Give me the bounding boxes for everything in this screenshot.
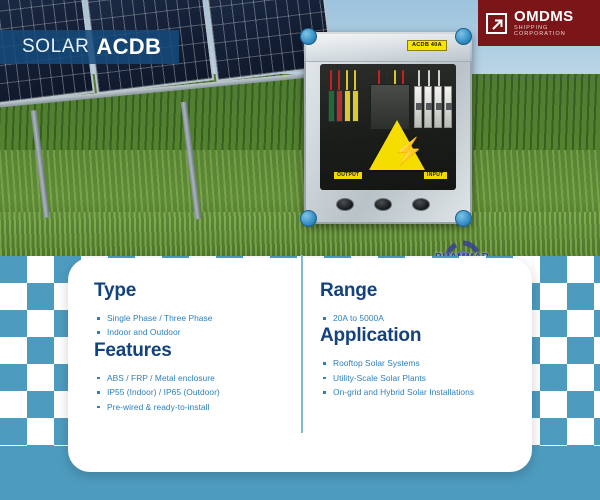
page-title: SOLAR ACDB — [0, 30, 179, 64]
corner-screw — [300, 28, 317, 45]
acdb-rating-label: ACDB 40A — [407, 40, 447, 51]
section-heading-application: Application — [320, 325, 532, 347]
acdb-interior-panel: ⚡ OUTPUT INPUT — [320, 64, 456, 190]
list-item: 20A to 5000A — [322, 311, 532, 325]
list-item: Rooftop Solar Systems — [322, 356, 532, 370]
poster-root: ⚡ OUTPUT INPUT ACDB 40A SOLAR ACDB — [0, 0, 600, 500]
list-item: Pre-wired & ready-to-install — [96, 400, 300, 414]
specs-card: Type Single Phase / Three Phase Indoor a… — [68, 258, 532, 472]
range-list: 20A to 5000A — [322, 311, 532, 325]
corner-screw — [455, 210, 472, 227]
list-item: Utility-Scale Solar Plants — [322, 371, 532, 385]
page-title-bold: ACDB — [96, 34, 161, 60]
bhammar-watermark: BHAMMAR — [424, 238, 500, 256]
mcb-breaker — [424, 86, 432, 128]
acdb-product-image: ⚡ OUTPUT INPUT ACDB 40A — [298, 28, 480, 228]
terminal-yellow — [352, 90, 359, 122]
application-list: Rooftop Solar Systems Utility-Scale Sola… — [322, 356, 532, 399]
specs-column-right: Range 20A to 5000A Application Rooftop S… — [300, 258, 532, 472]
wire-yellow — [354, 70, 356, 92]
page-title-light: SOLAR — [22, 36, 89, 58]
cable-gland — [412, 198, 430, 211]
wire-yellow — [346, 70, 348, 92]
section-heading-range: Range — [320, 280, 532, 302]
wire-red — [338, 70, 340, 92]
logo-company-subtitle: SHIPPING CORPORATION — [514, 26, 600, 37]
logo-text-block: OMDMS SHIPPING CORPORATION — [514, 9, 600, 38]
list-item: IP55 (Indoor) / IP65 (Outdoor) — [96, 385, 300, 399]
mcb-breaker — [434, 86, 442, 128]
output-label: OUTPUT — [334, 172, 362, 179]
terminal-red — [336, 90, 343, 122]
specs-column-left: Type Single Phase / Three Phase Indoor a… — [68, 258, 300, 472]
input-label: INPUT — [424, 172, 447, 179]
lightning-bolt-icon: ⚡ — [392, 138, 424, 164]
features-list: ABS / FRP / Metal enclosure IP55 (Indoor… — [96, 371, 300, 414]
logo-company-name: OMDMS — [514, 9, 600, 24]
list-item: ABS / FRP / Metal enclosure — [96, 371, 300, 385]
mcb-breaker — [444, 86, 452, 128]
arrow-up-right-in-square-icon — [486, 13, 507, 34]
cable-gland — [374, 198, 392, 211]
wire-red — [330, 70, 332, 92]
terminal-yellow — [344, 90, 351, 122]
company-logo[interactable]: OMDMS SHIPPING CORPORATION — [478, 0, 600, 46]
corner-screw — [300, 210, 317, 227]
list-item: Indoor and Outdoor — [96, 325, 300, 339]
terminal-green — [328, 90, 335, 122]
hero-banner: ⚡ OUTPUT INPUT ACDB 40A SOLAR ACDB — [0, 0, 600, 256]
cable-gland — [336, 198, 354, 211]
list-item: On-grid and Hybrid Solar Installations — [322, 385, 532, 399]
corner-screw — [455, 28, 472, 45]
section-heading-features: Features — [94, 340, 300, 362]
type-list: Single Phase / Three Phase Indoor and Ou… — [96, 311, 300, 340]
section-heading-type: Type — [94, 280, 300, 302]
list-item: Single Phase / Three Phase — [96, 311, 300, 325]
